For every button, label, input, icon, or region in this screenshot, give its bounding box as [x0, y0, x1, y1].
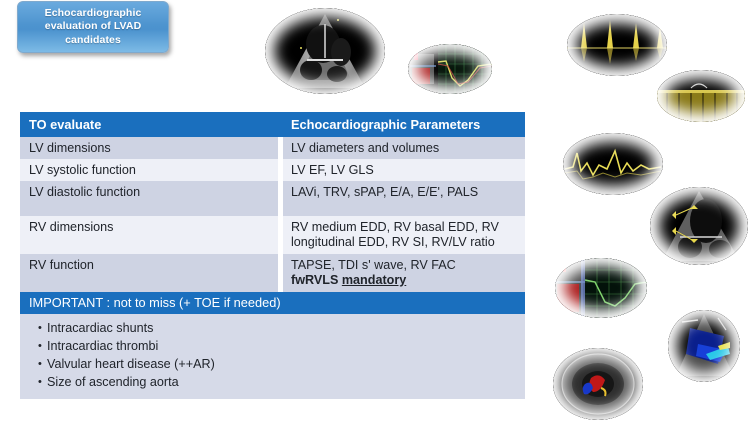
- cell-parameters-mandatory: mandatory: [342, 273, 406, 287]
- bullet-marker-icon: •: [38, 356, 47, 372]
- cell-evaluate: LV dimensions: [20, 137, 278, 159]
- color-doppler-spectral-trace: [408, 44, 492, 94]
- title-line-1: Echocardiographic: [45, 7, 142, 19]
- continuous-wave-doppler-grid: [555, 258, 647, 318]
- bullet-marker-icon: •: [38, 374, 47, 390]
- important-bar: IMPORTANT : not to miss (+ TOE if needed…: [20, 292, 525, 314]
- list-item: • Intracardiac thrombi: [20, 337, 525, 355]
- list-item-label: Intracardiac thrombi: [47, 338, 158, 354]
- cell-evaluate: LV systolic function: [20, 159, 278, 181]
- cell-evaluate: RV dimensions: [20, 216, 278, 254]
- list-item-label: Valvular heart disease (++AR): [47, 356, 215, 372]
- cell-parameters: LV diameters and volumes: [283, 137, 525, 159]
- m-mode-graphic: [657, 70, 745, 122]
- title-line-3: candidates: [65, 34, 121, 46]
- cell-parameters: RV medium EDD, RV basal EDD, RV longitud…: [283, 216, 525, 254]
- cell-parameters: LAVi, TRV, sPAP, E/A, E/E', PALS: [283, 181, 525, 203]
- cw-doppler-graphic: [555, 258, 647, 318]
- table-spacer-row: [20, 203, 525, 216]
- doppler-trace-graphic: [408, 44, 492, 94]
- table-row: LV dimensions LV diameters and volumes: [20, 137, 525, 159]
- cell-parameters: TAPSE, TDI s' wave, RV FAC fwRVLS mandat…: [283, 254, 525, 292]
- caliper-echo-graphic: [650, 187, 748, 265]
- spacer-cell: [20, 203, 278, 216]
- slide-canvas: Echocardiographic evaluation of LVAD can…: [0, 0, 756, 427]
- color-doppler-jet-blue: [668, 310, 740, 382]
- bullet-marker-icon: •: [38, 320, 47, 336]
- list-item: • Valvular heart disease (++AR): [20, 355, 525, 373]
- important-bullet-list: • Intracardiac shunts • Intracardiac thr…: [20, 314, 525, 399]
- spacer-cell: [283, 203, 525, 216]
- pulsed-wave-doppler-spikes: [567, 14, 667, 76]
- table-row: LV diastolic function LAVi, TRV, sPAP, E…: [20, 181, 525, 203]
- cell-evaluate: LV diastolic function: [20, 181, 278, 203]
- title-line-2: evaluation of LVAD: [45, 20, 142, 32]
- cell-parameters-text: TAPSE, TDI s' wave, RV FAC: [291, 258, 456, 272]
- list-item: • Size of ascending aorta: [20, 373, 525, 391]
- evaluation-table: TO evaluate Echocardiographic Parameters…: [20, 112, 525, 399]
- table-header-row: TO evaluate Echocardiographic Parameters: [20, 112, 525, 137]
- table-row: LV systolic function LV EF, LV GLS: [20, 159, 525, 181]
- doppler-spikes-graphic: [567, 14, 667, 76]
- short-axis-color-doppler: [553, 348, 643, 420]
- header-cell-parameters: Echocardiographic Parameters: [283, 112, 525, 137]
- cell-parameters: LV EF, LV GLS: [283, 159, 525, 181]
- table-row: RV function TAPSE, TDI s' wave, RV FAC f…: [20, 254, 525, 292]
- color-jet-graphic: [668, 310, 740, 382]
- short-axis-graphic: [553, 348, 643, 420]
- list-item-label: Intracardiac shunts: [47, 320, 153, 336]
- header-cell-evaluate: TO evaluate: [20, 112, 278, 137]
- tissue-doppler-waveform: [563, 133, 663, 195]
- slide-title-box: Echocardiographic evaluation of LVAD can…: [17, 1, 169, 53]
- apical-four-chamber-echo: [265, 8, 385, 94]
- slide-title-text: Echocardiographic evaluation of LVAD can…: [39, 7, 148, 48]
- m-mode-yellow-strip: [657, 70, 745, 122]
- echo-with-calipers: [650, 187, 748, 265]
- cell-parameters-emphasis: fwRVLS: [291, 273, 342, 287]
- bullet-marker-icon: •: [38, 338, 47, 354]
- list-item-label: Size of ascending aorta: [47, 374, 179, 390]
- list-item: • Intracardiac shunts: [20, 319, 525, 337]
- table-row: RV dimensions RV medium EDD, RV basal ED…: [20, 216, 525, 254]
- tissue-doppler-graphic: [563, 133, 663, 195]
- cell-evaluate: RV function: [20, 254, 278, 292]
- echo-fan-graphic: [265, 8, 385, 94]
